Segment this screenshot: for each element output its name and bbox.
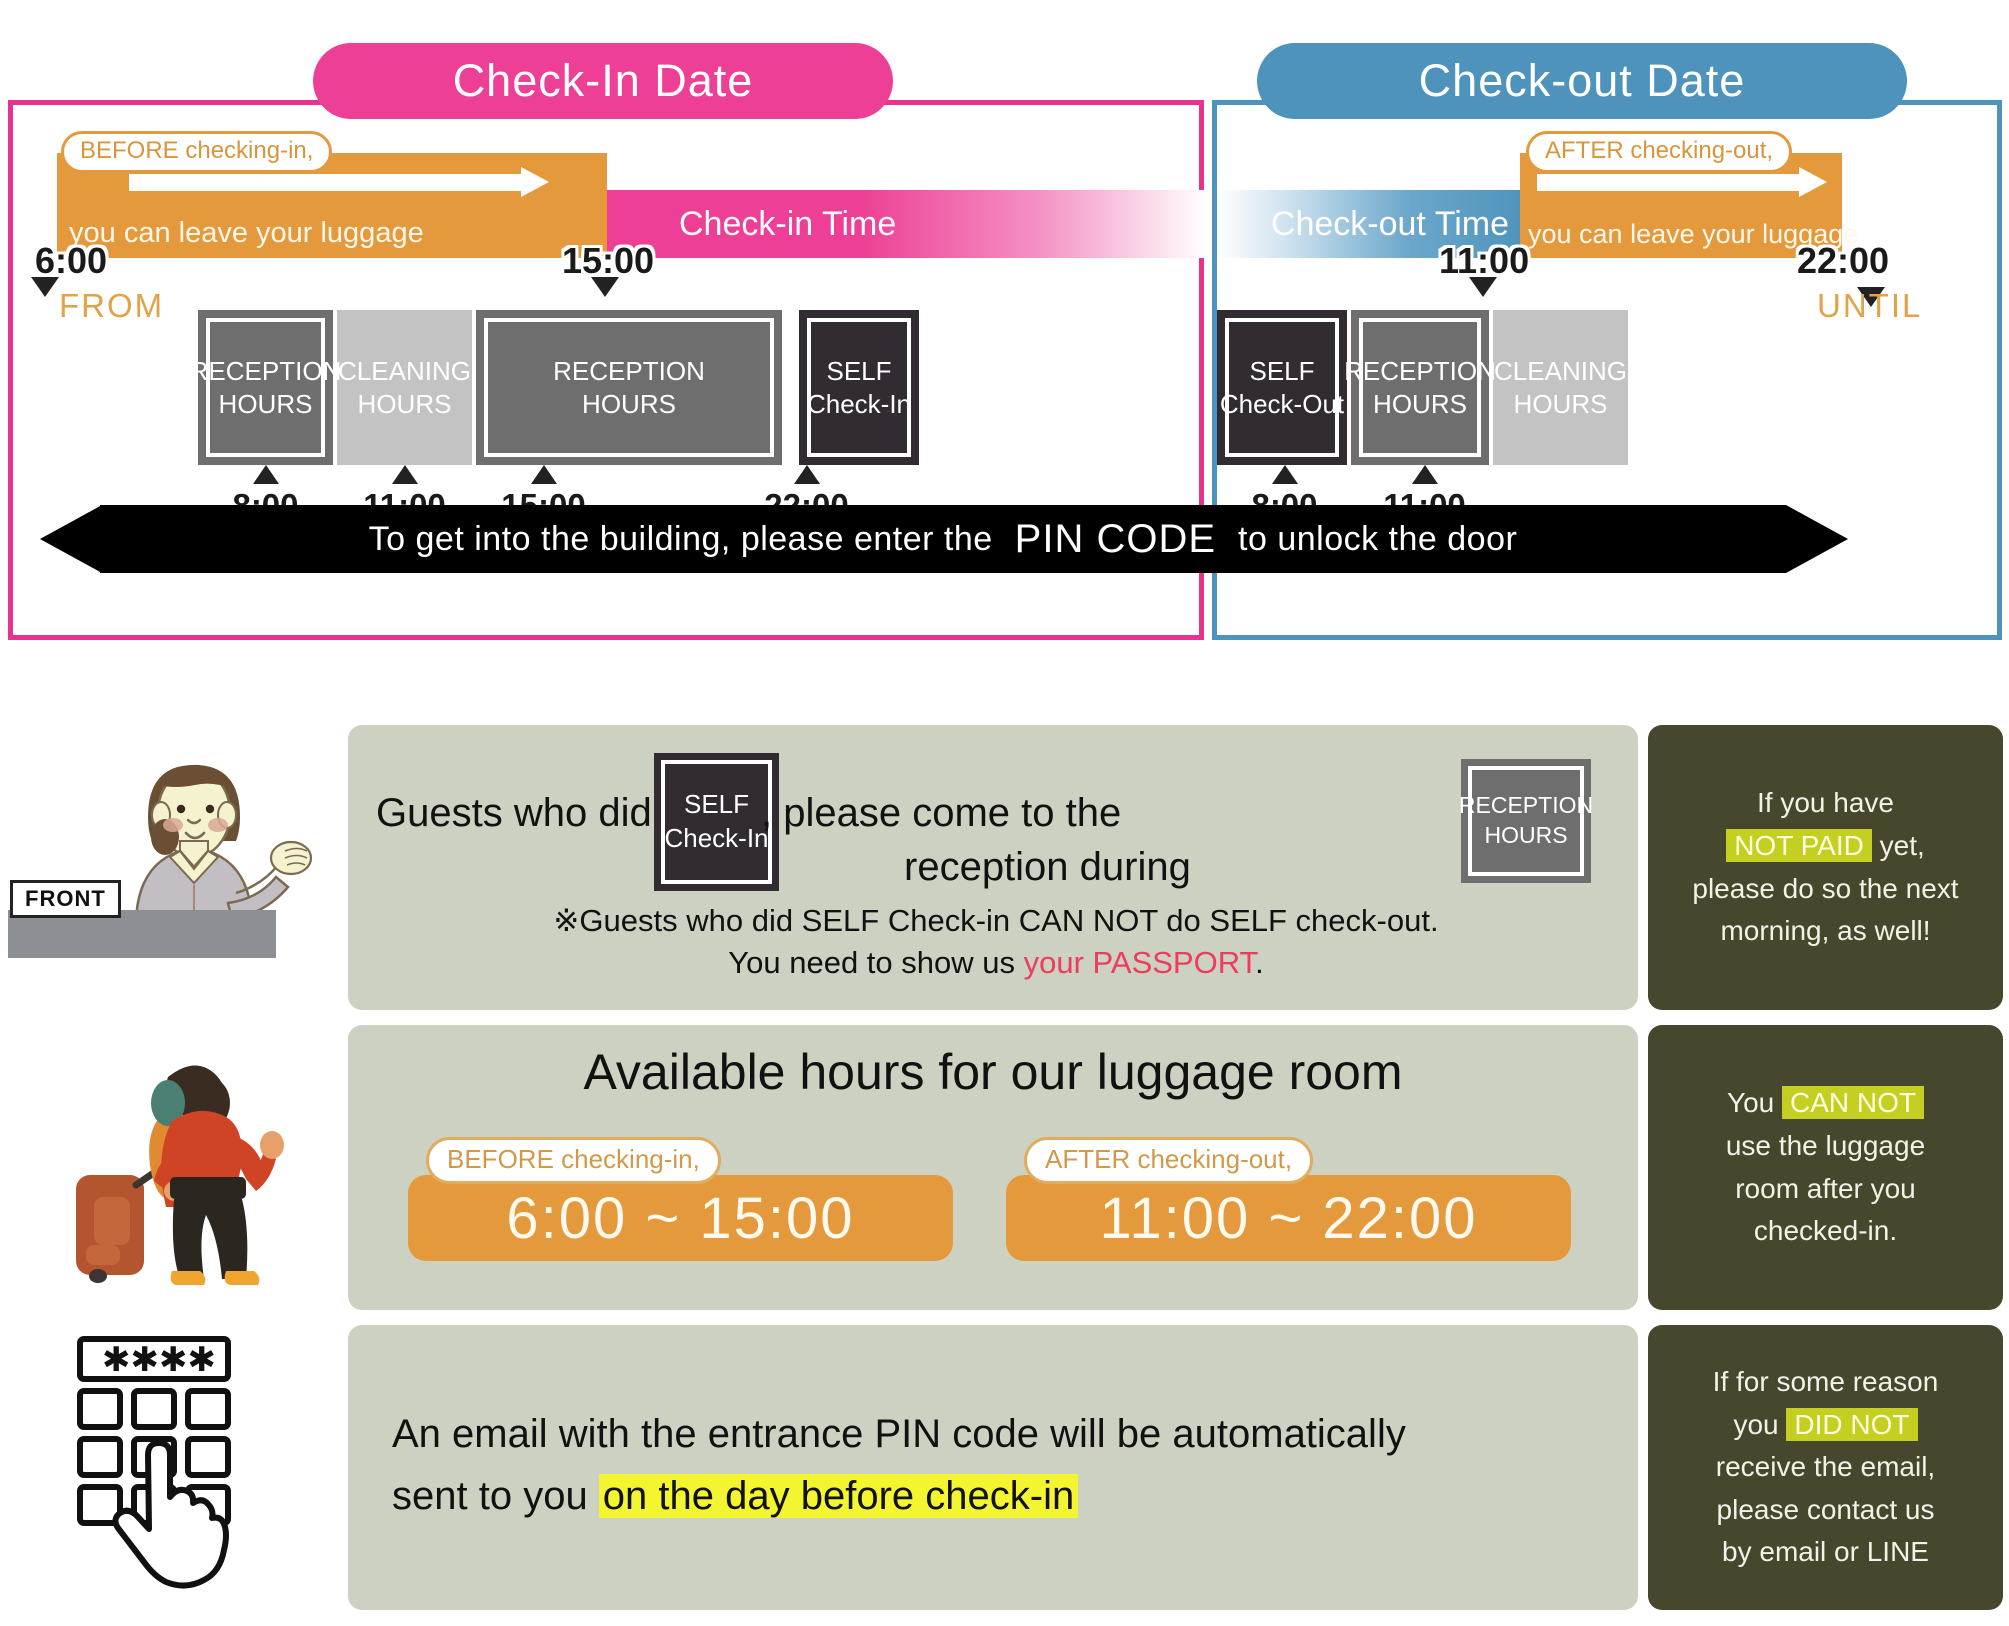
passport-emphasis: your PASSPORT [1024, 945, 1255, 980]
checkin-end-time: 15:00 [562, 240, 654, 282]
block-label-line2: HOURS [219, 388, 313, 421]
note2-highlight: CAN NOT [1782, 1086, 1924, 1119]
note2-line3: room after you [1735, 1168, 1916, 1211]
pin-code-banner: To get into the building, please enter t… [100, 505, 1786, 573]
note3-highlight: DID NOT [1786, 1408, 1917, 1441]
pin-email-highlight: on the day before check-in [599, 1474, 1078, 1518]
checkout-end-time: 22:00 [1797, 240, 1889, 282]
info-section: FRONT Guests who did SELF Check-In , ple… [0, 700, 2009, 1626]
from-label: FROM [59, 287, 164, 325]
block-label-line1: SELF [1249, 355, 1314, 388]
note2-line1-before: You [1727, 1087, 1782, 1118]
note1-line3: please do so the next [1692, 868, 1958, 911]
card1-part2: , please come to the [761, 791, 1121, 836]
slot-range-after: 11:00 ~ 22:00 [1006, 1175, 1571, 1261]
block-self-check-out: SELF Check-Out [1217, 310, 1347, 465]
note1-line1: If you have [1757, 782, 1894, 825]
block-cleaning-hours-checkout: CLEANING HOURS [1493, 310, 1628, 465]
block-reception-hours-afternoon: RECEPTION HOURS [476, 310, 782, 465]
front-desk-sign: FRONT [10, 880, 121, 918]
chip-label-line2: Check-In [664, 822, 768, 856]
reception-instruction-card: Guests who did SELF Check-In , please co… [348, 725, 1638, 1010]
pin-keypad-illustration: ✱✱✱✱ [40, 1325, 340, 1610]
pin-email-card: An email with the entrance PIN code will… [348, 1325, 1638, 1610]
block-label-line1: CLEANING [338, 355, 471, 388]
block-reception-hours-checkout: RECEPTION HOURS [1351, 310, 1489, 465]
block-label-line2: HOURS [1373, 388, 1467, 421]
pin-email-line2-prefix: sent to you [392, 1474, 599, 1518]
card1-part1: Guests who did [376, 791, 652, 836]
traveler-illustration [40, 1025, 340, 1310]
pin-banner-text-after: to unlock the door [1238, 520, 1517, 559]
note-did-not-receive: If for some reason you DID NOT receive t… [1648, 1325, 2003, 1610]
block-label-line1: RECEPTION [553, 355, 705, 388]
checkin-blocks: RECEPTION HOURS CLEANING HOURS RECEPTION… [13, 310, 1199, 465]
block-label-line1: RECEPTION [1344, 355, 1496, 388]
timeline-section: Check-In Date BEFORE checking-in, you ca… [0, 0, 2009, 640]
note1-line4: morning, as well! [1720, 910, 1930, 953]
info-row-reception: FRONT Guests who did SELF Check-In , ple… [0, 725, 2009, 1010]
block-label-line1: SELF [826, 355, 891, 388]
checkin-luggage-arrow-icon [129, 167, 549, 197]
slot-range-before: 6:00 ~ 15:00 [408, 1175, 953, 1261]
checkout-time-label: Check-out Time [1271, 205, 1509, 244]
block-label-line1: RECEPTION [190, 355, 342, 388]
block-reception-hours-morning: RECEPTION HOURS [198, 310, 333, 465]
checkin-time-band: Check-in Time [607, 190, 1207, 258]
block-label-line1: CLEANING [1494, 355, 1627, 388]
checkin-start-time: 6:00 [35, 240, 107, 282]
checkin-date-title: Check-In Date [313, 43, 893, 119]
slot-chip-after: AFTER checking-out, [1024, 1137, 1313, 1184]
checkin-luggage-text: you can leave your luggage [69, 217, 424, 250]
block-label-line2: Check-In [807, 388, 911, 421]
note3-line3: receive the email, [1716, 1446, 1935, 1489]
checkout-date-title: Check-out Date [1257, 43, 1907, 119]
note3-line1: If for some reason [1713, 1361, 1939, 1404]
checkout-blocks: SELF Check-Out RECEPTION HOURS CLEANING … [1217, 310, 1997, 465]
checkin-end-marker-icon [591, 277, 619, 297]
block-label-line2: Check-Out [1220, 388, 1344, 421]
block-self-check-in: SELF Check-In [799, 310, 919, 465]
chip-label-line1: RECEPTION [1459, 791, 1593, 821]
note2-line2: use the luggage [1726, 1125, 1925, 1168]
card1-footnote: ※Guests who did SELF Check-in CAN NOT do… [376, 900, 1616, 984]
banner-arrow-left-icon [40, 505, 102, 573]
card1-footnote-line1: ※Guests who did SELF Check-in CAN NOT do… [376, 900, 1616, 942]
checkout-start-time: 11:00 [1439, 240, 1529, 282]
slot-chip-before: BEFORE checking-in, [426, 1137, 721, 1184]
info-row-luggage: Available hours for our luggage room BEF… [0, 1025, 2009, 1310]
block-label-line2: HOURS [358, 388, 452, 421]
pin-email-line1: An email with the entrance PIN code will… [392, 1403, 1602, 1465]
chip-label-line2: HOURS [1484, 821, 1567, 851]
checkin-time-label: Check-in Time [679, 205, 896, 244]
checkout-luggage-arrow-icon [1537, 167, 1827, 197]
pin-email-text: An email with the entrance PIN code will… [392, 1403, 1602, 1527]
block-label-line2: HOURS [1514, 388, 1608, 421]
block-label-line2: HOURS [582, 388, 676, 421]
note3-line2-before: you [1733, 1409, 1786, 1440]
note-not-paid: If you have NOT PAID yet, please do so t… [1648, 725, 2003, 1010]
checkout-start-marker-icon [1469, 277, 1497, 297]
note-cannot-use-luggage: You CAN NOT use the luggage room after y… [1648, 1025, 2003, 1310]
until-label: UNTIL [1817, 287, 1922, 325]
note2-line4: checked-in. [1754, 1210, 1897, 1253]
chip-self-check-in: SELF Check-In [654, 753, 779, 891]
chip-reception-hours: RECEPTION HOURS [1461, 759, 1591, 883]
note3-line4: please contact us [1717, 1489, 1935, 1532]
pin-banner-text-before: To get into the building, please enter t… [369, 520, 993, 559]
pin-banner-emphasis: PIN CODE [1015, 517, 1216, 562]
luggage-room-title: Available hours for our luggage room [348, 1043, 1638, 1101]
checkin-start-marker-icon [31, 277, 59, 297]
block-cleaning-hours-checkin: CLEANING HOURS [337, 310, 472, 465]
svg-text:✱✱✱✱: ✱✱✱✱ [102, 1340, 216, 1380]
luggage-hours-card: Available hours for our luggage room BEF… [348, 1025, 1638, 1310]
note1-highlight: NOT PAID [1726, 829, 1872, 862]
banner-arrow-right-icon [1786, 505, 1848, 573]
note3-line5: by email or LINE [1722, 1531, 1929, 1574]
chip-label-line1: SELF [684, 788, 749, 822]
card1-footnote-line2-suffix: . [1255, 945, 1264, 980]
card1-part3: reception during [904, 845, 1191, 890]
info-row-pin-email: ✱✱✱✱ An email with the entrance PIN code… [0, 1325, 2009, 1610]
card1-footnote-line2-prefix: You need to show us [728, 945, 1023, 980]
note1-line2-after: yet, [1872, 830, 1925, 861]
receptionist-illustration [40, 725, 340, 1010]
